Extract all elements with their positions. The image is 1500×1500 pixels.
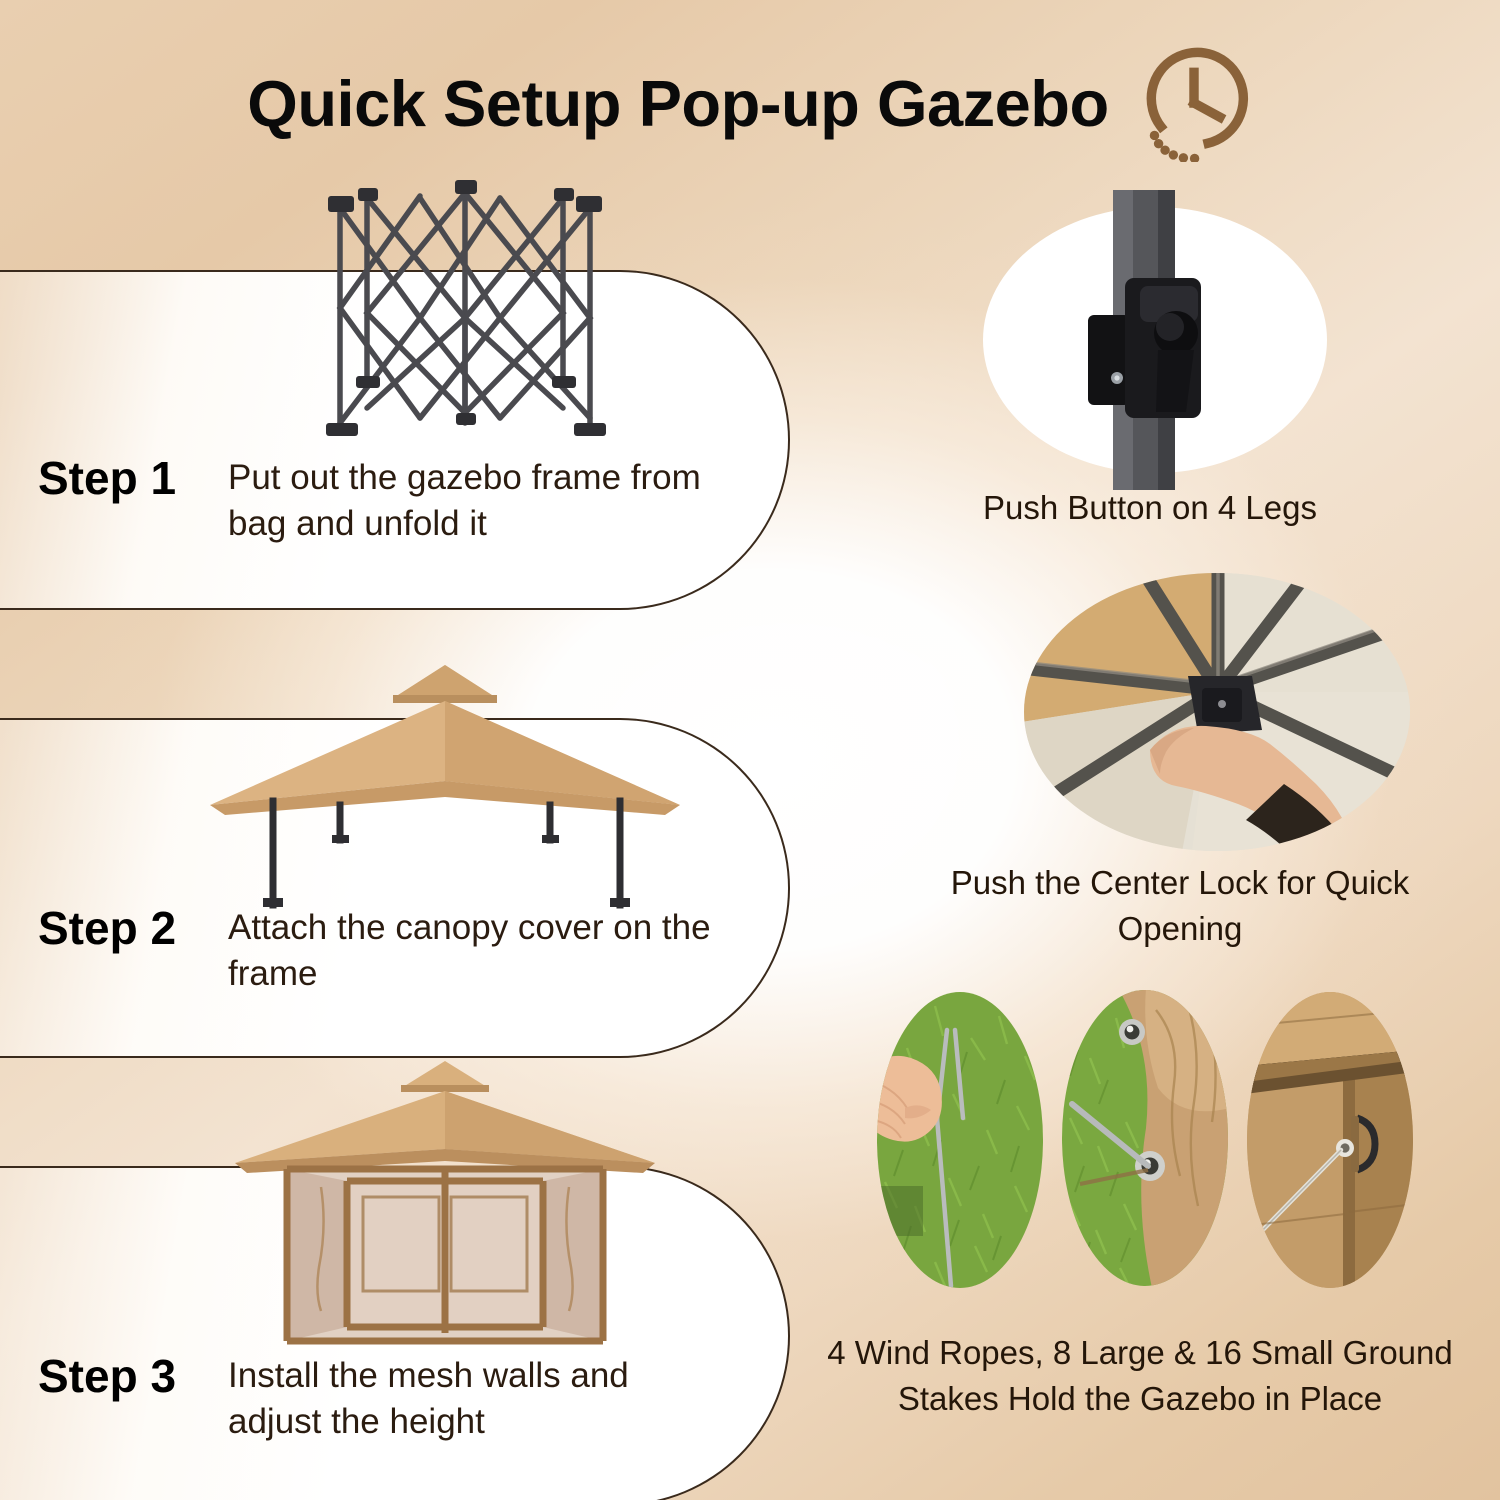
infographic-poster: Quick Setup Pop-up Gazebo <box>0 0 1500 1500</box>
ground-stakes-photo-1 <box>875 990 1045 1290</box>
ground-stakes-photo-2 <box>1060 988 1230 1288</box>
step-row-2: Step 2 Attach the canopy cover on the fr… <box>0 905 820 997</box>
step-row-3: Step 3 Install the mesh walls and adjust… <box>0 1353 820 1445</box>
clock-icon <box>1135 44 1253 162</box>
step-3-label: Step 3 <box>0 1353 206 1399</box>
wind-rope-photo-3 <box>1245 990 1415 1290</box>
step-2-description: Attach the canopy cover on the frame <box>228 905 728 997</box>
center-lock-caption: Push the Center Lock for Quick Opening <box>900 860 1460 951</box>
step-1-label: Step 1 <box>0 455 206 501</box>
step-row-1: Step 1 Put out the gazebo frame from bag… <box>0 455 820 547</box>
step-card-2 <box>0 718 790 1058</box>
step-3-description: Install the mesh walls and adjust the he… <box>228 1353 728 1445</box>
center-lock-photo <box>1022 572 1412 852</box>
step-card-1 <box>0 270 790 610</box>
push-button-photo <box>980 190 1330 490</box>
push-button-caption: Push Button on 4 Legs <box>840 485 1460 531</box>
step-card-3 <box>0 1166 790 1500</box>
poster-header: Quick Setup Pop-up Gazebo <box>0 48 1500 158</box>
step-2-label: Step 2 <box>0 905 206 951</box>
ground-stakes-caption: 4 Wind Ropes, 8 Large & 16 Small Ground … <box>800 1330 1480 1421</box>
page-title: Quick Setup Pop-up Gazebo <box>247 66 1108 141</box>
step-1-description: Put out the gazebo frame from bag and un… <box>228 455 728 547</box>
